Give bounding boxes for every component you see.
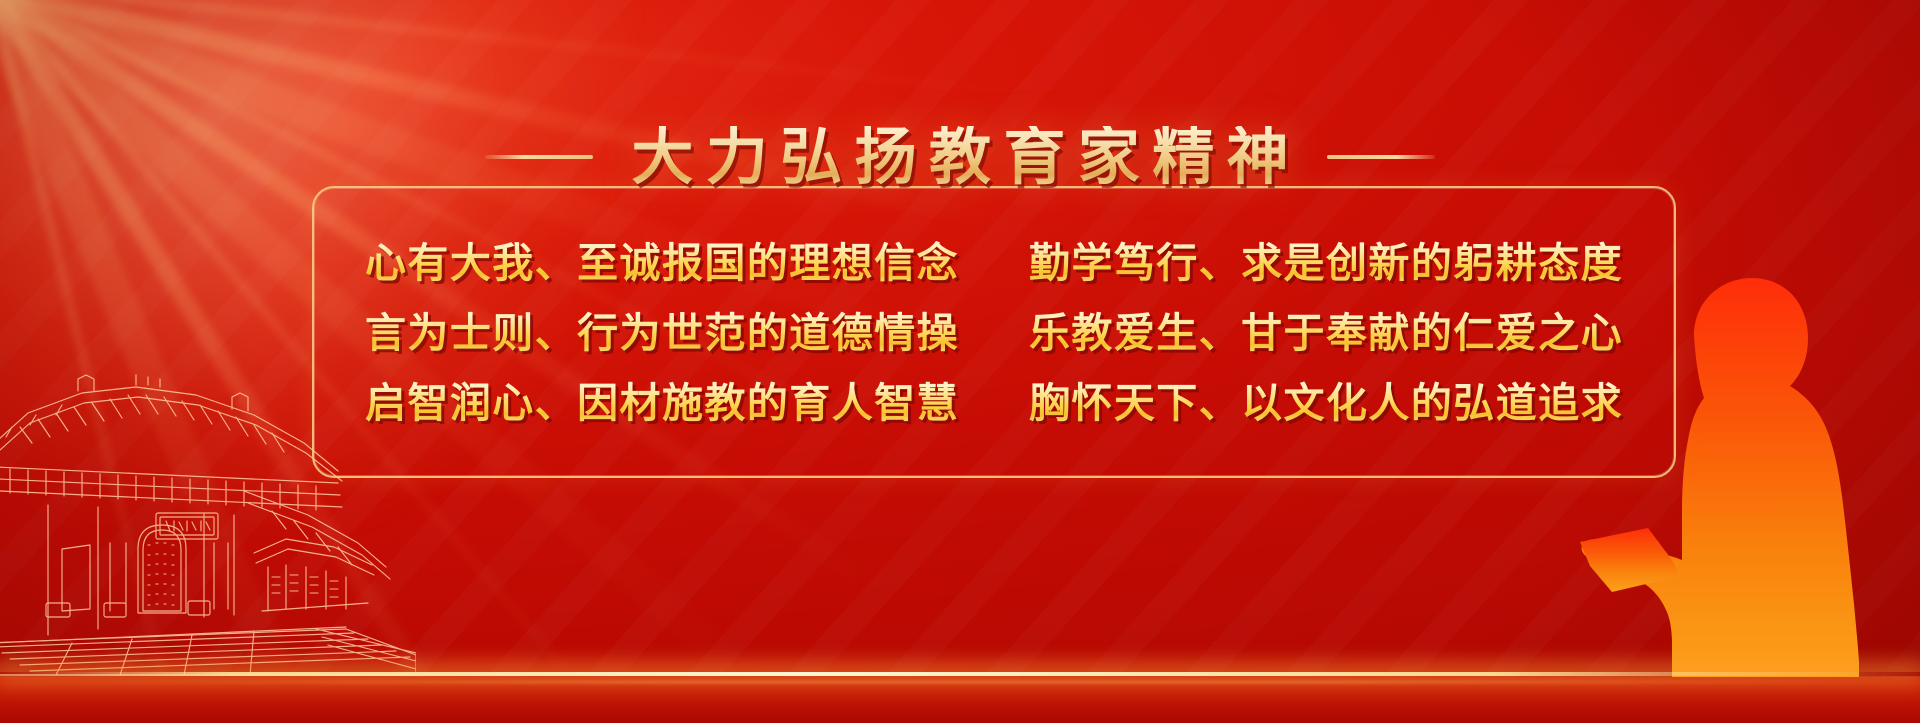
page-title: 大力弘扬教育家精神 <box>619 126 1301 188</box>
slogan-row: 言为士则、行为世范的道德情操 乐教爱生、甘于奉献的仁爱之心 <box>356 311 1632 357</box>
education-spirit-banner: 大力弘扬教育家精神 心有大我、至诚报国的理想信念 勤学笃行、求是创新的躬耕态度 … <box>0 0 1920 723</box>
slogan-row: 心有大我、至诚报国的理想信念 勤学笃行、求是创新的躬耕态度 <box>356 241 1632 287</box>
slogan-grid: 心有大我、至诚报国的理想信念 勤学笃行、求是创新的躬耕态度 言为士则、行为世范的… <box>312 186 1676 478</box>
slogan-text: 言为士则、行为世范的道德情操 <box>356 311 994 357</box>
title-rule-right-icon <box>1327 155 1435 160</box>
slogan-text: 心有大我、至诚报国的理想信念 <box>356 241 994 287</box>
bottom-light-halo <box>0 681 1920 683</box>
bottom-glow <box>0 649 1920 723</box>
slogan-row: 启智润心、因材施教的育人智慧 胸怀天下、以文化人的弘道追求 <box>356 381 1632 427</box>
title-rule-left-icon <box>485 155 593 160</box>
title-row: 大力弘扬教育家精神 <box>0 126 1920 188</box>
slogan-text: 启智润心、因材施教的育人智慧 <box>356 381 994 427</box>
bottom-light-line <box>0 672 1920 676</box>
slogan-text: 乐教爱生、甘于奉献的仁爱之心 <box>994 311 1632 357</box>
slogan-text: 胸怀天下、以文化人的弘道追求 <box>994 381 1632 427</box>
slogan-text: 勤学笃行、求是创新的躬耕态度 <box>994 241 1632 287</box>
